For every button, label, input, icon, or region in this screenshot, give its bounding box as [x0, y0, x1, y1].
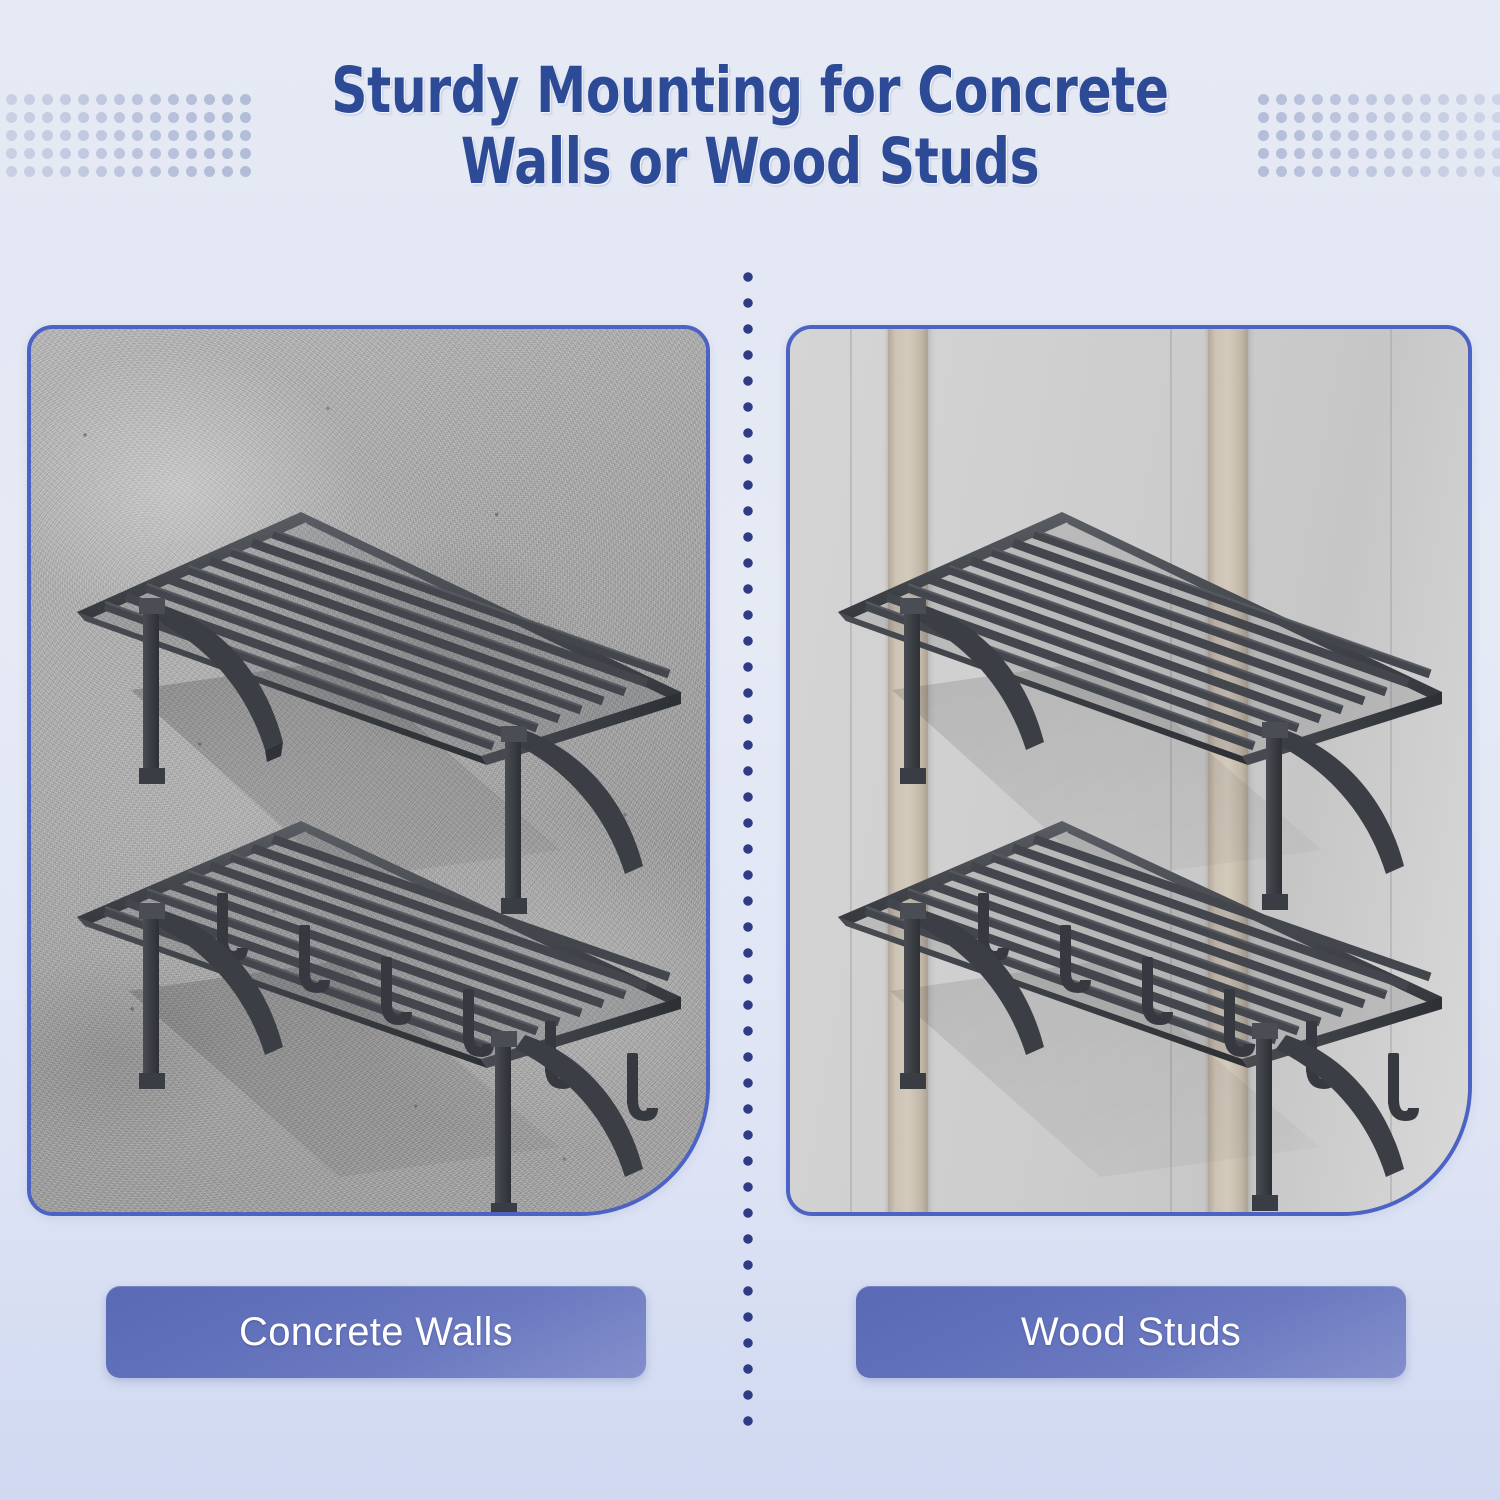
rack-lower-concrete	[69, 807, 689, 1137]
page-title-line-2: Walls or Wood Studs	[150, 127, 1350, 198]
panel-concrete-walls	[27, 325, 710, 1216]
vertical-dotted-divider	[743, 272, 753, 1427]
caption-concrete-walls-label: Concrete Walls	[239, 1310, 513, 1355]
page-title: Sturdy Mounting for Concrete Walls or Wo…	[0, 56, 1500, 197]
hook	[627, 1053, 658, 1121]
rack-upper-wood	[830, 494, 1450, 844]
caption-wood-studs-label: Wood Studs	[1021, 1310, 1241, 1355]
caption-wood-studs: Wood Studs	[856, 1286, 1406, 1378]
caption-concrete-walls: Concrete Walls	[106, 1286, 646, 1378]
rack-lower-wood	[830, 807, 1450, 1137]
page-title-line-1: Sturdy Mounting for Concrete	[150, 56, 1350, 127]
hook	[1388, 1053, 1419, 1121]
rack-upper-concrete	[69, 494, 689, 844]
panel-wood-studs	[786, 325, 1472, 1216]
